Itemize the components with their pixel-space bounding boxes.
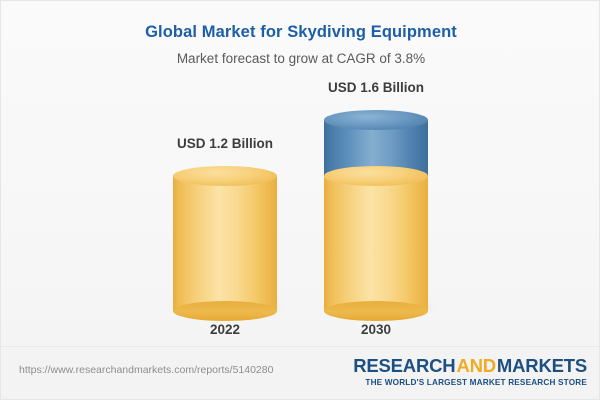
cylinder-top-cap [173,166,277,186]
chart-plot-area: USD 1.2 Billion 2022 USD 1.6 Billion [1,1,600,349]
logo-wordmark: RESEARCHANDMARKETS [353,355,587,376]
bar-cylinder-2022[interactable] [173,176,277,311]
source-url[interactable]: https://www.researchandmarkets.com/repor… [19,363,273,377]
bar-cylinder-2030[interactable] [324,120,428,311]
bar-value-label-2030: USD 1.6 Billion [296,79,456,97]
bar-segment-base-2030[interactable] [324,176,428,311]
cylinder-bottom-cap [173,301,277,321]
logo-word-and: AND [455,355,496,376]
bar-segment-base-2022[interactable] [173,176,277,311]
cylinder-bottom-cap [324,301,428,321]
logo-word-markets: MARKETS [497,355,587,376]
category-label-2022: 2022 [145,321,305,339]
chart-card: Global Market for Skydiving Equipment Ma… [0,0,600,400]
cylinder-body [173,176,277,311]
research-and-markets-logo[interactable]: RESEARCHANDMARKETS THE WORLD'S LARGEST M… [353,355,587,388]
cylinder-top-cap [324,166,428,186]
logo-tagline: THE WORLD'S LARGEST MARKET RESEARCH STOR… [353,377,587,388]
cylinder-top-cap [324,110,428,130]
category-label-2030: 2030 [296,321,456,339]
bar-value-label-2022: USD 1.2 Billion [145,135,305,153]
cylinder-body [324,176,428,311]
logo-word-research: RESEARCH [353,355,455,376]
chart-footer: https://www.researchandmarkets.com/repor… [1,346,600,399]
